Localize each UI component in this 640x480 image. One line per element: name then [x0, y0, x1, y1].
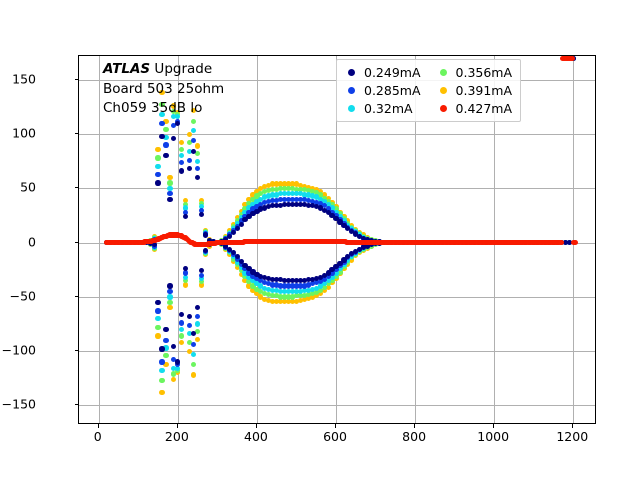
data-point-0.391mA: [167, 175, 172, 180]
data-point-0.391mA: [159, 390, 164, 395]
atlas-label: ATLAS: [103, 61, 150, 77]
gridline-horizontal: [79, 134, 595, 135]
legend-label: 0.391mA: [456, 83, 513, 98]
x-tick-label: 0: [94, 429, 102, 444]
x-tick-label: 600: [323, 429, 347, 444]
data-point-0.285mA-mirror: [163, 142, 168, 147]
x-tick-mark: [256, 424, 257, 428]
y-tick-mark: [75, 187, 79, 188]
legend: 0.249mA0.356mA0.285mA0.391mA0.32mA0.427m…: [336, 59, 521, 122]
data-point-0.356mA: [159, 378, 164, 383]
data-point-0.427mA: [558, 240, 563, 245]
data-point-0.249mA-mirror: [203, 232, 208, 237]
data-point-0.32mA-mirror: [195, 159, 200, 164]
y-tick-label: −100: [2, 343, 36, 358]
data-point-0.249mA: [159, 346, 164, 351]
legend-item-0.356mA[interactable]: 0.356mA: [435, 65, 513, 80]
legend-marker-icon: [348, 87, 355, 94]
data-point-0.285mA: [183, 270, 188, 275]
data-point-0.285mA: [163, 338, 168, 343]
data-point-0.356mA: [163, 353, 168, 358]
data-point-0.391mA-mirror: [155, 147, 160, 152]
data-point-0.285mA-mirror: [179, 320, 184, 325]
upgrade-label: Upgrade: [150, 61, 212, 77]
data-point-0.356mA-mirror: [179, 333, 184, 338]
data-point-0.32mA: [195, 321, 200, 326]
legend-label: 0.285mA: [364, 83, 421, 98]
x-tick-label: 400: [244, 429, 268, 444]
y-tick-mark: [75, 242, 79, 243]
y-tick-label: −150: [2, 397, 36, 412]
data-point-0.285mA: [167, 191, 172, 196]
data-point-0.356mA: [191, 362, 196, 367]
x-tick-mark: [493, 424, 494, 428]
data-point-0.285mA: [187, 323, 192, 328]
data-point-0.391mA-mirror: [167, 305, 172, 310]
data-point-0.32mA: [155, 316, 160, 321]
legend-marker-icon: [440, 69, 447, 76]
data-point-0.32mA-mirror: [155, 164, 160, 169]
legend-marker-icon: [348, 105, 355, 112]
y-tick-label: 100: [12, 126, 36, 141]
annotation-line-2: Board 503 25ohm: [103, 80, 224, 100]
legend-marker-icon: [440, 87, 447, 94]
data-point-0.391mA-mirror: [195, 143, 200, 148]
data-point-0.285mA: [159, 359, 164, 364]
gridline-vertical: [99, 56, 100, 423]
x-tick-mark: [98, 424, 99, 428]
data-point-0.391mA: [155, 333, 160, 338]
y-tick-label: 150: [12, 71, 36, 86]
data-point-0.356mA-mirror: [167, 300, 172, 305]
data-point-0.356mA-mirror: [163, 127, 168, 132]
y-tick-mark: [75, 133, 79, 134]
x-tick-mark: [177, 424, 178, 428]
x-tick-mark: [572, 424, 573, 428]
legend-item-0.427mA[interactable]: 0.427mA: [435, 101, 513, 116]
legend-label: 0.427mA: [456, 101, 513, 116]
x-tick-label: 800: [402, 429, 426, 444]
x-tick-label: 1200: [556, 429, 588, 444]
legend-marker-icon: [440, 105, 447, 112]
data-point-0.249mA: [235, 226, 240, 231]
y-tick-label: 50: [20, 180, 36, 195]
gridline-horizontal: [79, 188, 595, 189]
data-point-0.391mA: [183, 282, 188, 287]
data-point-0.356mA-mirror: [155, 155, 160, 160]
data-point-0.32mA: [167, 186, 172, 191]
legend-label: 0.356mA: [456, 65, 513, 80]
legend-item-0.32mA[interactable]: 0.32mA: [343, 101, 421, 116]
annotation-line-1: ATLAS Upgrade: [103, 60, 224, 80]
data-point-0.285mA-mirror: [159, 121, 164, 126]
data-point-0.249mA: [155, 300, 160, 305]
data-point-0.32mA-mirror: [167, 294, 172, 299]
data-point-0.285mA-mirror: [155, 172, 160, 177]
data-point-0.391mA: [191, 372, 196, 377]
annotation-text: ATLAS Upgrade Board 503 25ohm Ch059 35dB…: [103, 60, 224, 119]
annotation-line-3: Ch059 35dB lo: [103, 99, 224, 119]
x-tick-label: 200: [165, 429, 189, 444]
legend-item-0.391mA[interactable]: 0.391mA: [435, 83, 513, 98]
legend-label: 0.249mA: [364, 65, 421, 80]
gridline-horizontal: [79, 405, 595, 406]
figure: 020040060080010001200 −150−100−500501001…: [0, 0, 640, 480]
data-point-0.32mA: [159, 368, 164, 373]
data-point-0.249mA: [203, 248, 208, 253]
data-point-0.249mA: [163, 327, 168, 332]
data-point-0.356mA: [155, 325, 160, 330]
x-tick-label: 1000: [477, 429, 509, 444]
data-point-0.356mA-mirror: [191, 119, 196, 124]
legend-item-0.249mA[interactable]: 0.249mA: [343, 65, 421, 80]
x-tick-mark: [414, 424, 415, 428]
data-point-0.356mA: [167, 180, 172, 185]
legend-marker-icon: [348, 69, 355, 76]
data-point-0.249mA-mirror: [159, 134, 164, 139]
y-tick-mark: [75, 404, 79, 405]
y-tick-mark: [75, 296, 79, 297]
y-tick-mark: [75, 350, 79, 351]
data-point-0.249mA: [167, 197, 172, 202]
legend-label: 0.32mA: [364, 101, 413, 116]
y-tick-label: −50: [10, 288, 36, 303]
data-point-0.249mA: [239, 222, 244, 227]
data-point-0.285mA: [155, 308, 160, 313]
gridline-horizontal: [79, 297, 595, 298]
data-point-0.249mA-mirror: [167, 283, 172, 288]
data-point-0.391mA: [195, 337, 200, 342]
data-point-0.285mA-mirror: [167, 289, 172, 294]
y-tick-mark: [75, 79, 79, 80]
gridline-horizontal: [79, 351, 595, 352]
data-point-0.249mA-mirror: [155, 180, 160, 185]
data-point-0.285mA: [199, 273, 204, 278]
y-tick-label: 0: [28, 234, 36, 249]
legend-item-0.285mA[interactable]: 0.285mA: [343, 83, 421, 98]
x-tick-mark: [335, 424, 336, 428]
